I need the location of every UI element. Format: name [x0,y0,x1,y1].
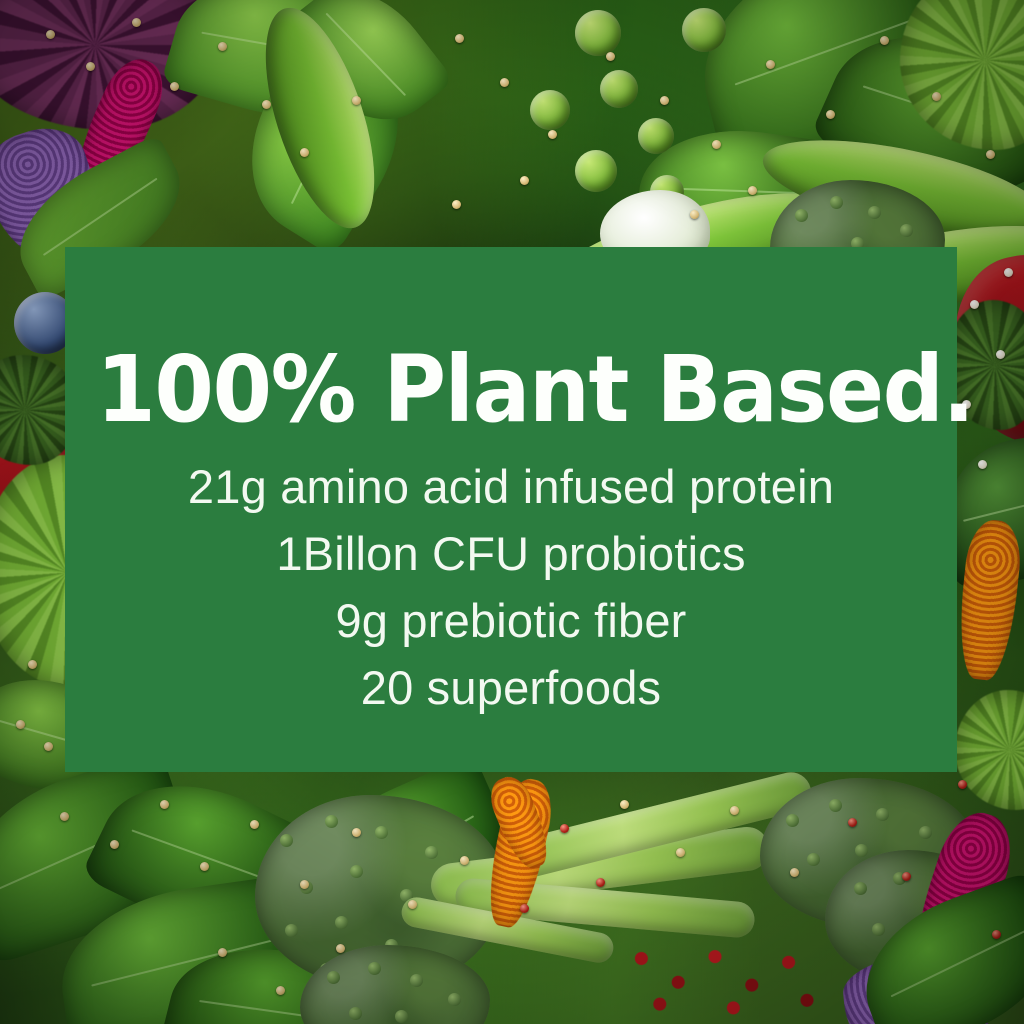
pea-sphere-2 [682,8,726,52]
seed-dot [452,200,461,209]
seed-dot [46,30,55,39]
seed-dot [200,862,209,871]
seed-dot [548,130,557,139]
seed-dot [660,96,669,105]
benefit-item-fiber: 9g prebiotic fiber [65,587,957,654]
seed-dot [620,800,629,809]
seed-dot [606,52,615,61]
seed-dot [766,60,775,69]
pea-sphere-7 [650,175,684,209]
seed-dot [352,828,361,837]
seed-dot-red [848,818,857,827]
seed-dot [60,812,69,821]
seed-dot-white [970,300,979,309]
seed-dot [110,840,119,849]
pea-sphere-5 [638,118,674,154]
seed-dot [880,36,889,45]
pea-sphere-4 [530,90,570,130]
poster-canvas: 100% Plant Based. 21g amino acid infused… [0,0,1024,1024]
seed-dot [676,848,685,857]
seed-dot [748,186,757,195]
seed-dot [132,18,141,27]
seed-dot [690,210,699,219]
seed-dot [300,880,309,889]
seed-dot-red [520,904,529,913]
seed-dot-red [596,878,605,887]
pea-sphere-6 [575,150,617,192]
seed-dot [86,62,95,71]
seed-dot [460,856,469,865]
seed-dot-red [902,872,911,881]
seed-dot [218,42,227,51]
seed-dot [408,900,417,909]
benefit-list: 21g amino acid infused protein 1Billon C… [65,453,957,721]
seed-dot [300,148,309,157]
seed-dot [352,96,361,105]
seed-dot [250,820,259,829]
seed-dot [730,806,739,815]
seed-dot [500,78,509,87]
seed-dot-white [1004,268,1013,277]
seed-dot [932,92,941,101]
seed-dot [336,944,345,953]
seed-dot-red [560,824,569,833]
seed-dot-white [978,460,987,469]
benefit-item-probiotics: 1Billon CFU probiotics [65,520,957,587]
benefit-item-protein: 21g amino acid infused protein [65,453,957,520]
seed-dot [170,82,179,91]
seed-dot [455,34,464,43]
pea-sphere-1 [575,10,621,56]
seed-dot [160,800,169,809]
seed-dot [44,742,53,751]
seed-dot-red [992,930,1001,939]
seed-dot [262,100,271,109]
seed-dot [986,150,995,159]
seed-dot [712,140,721,149]
red-peppercorn-cluster [600,930,830,1024]
seed-dot [16,720,25,729]
seed-dot [520,176,529,185]
seed-dot [218,948,227,957]
seed-dot-white [996,350,1005,359]
seed-dot [28,660,37,669]
seed-dot [790,868,799,877]
seed-dot [826,110,835,119]
benefit-item-superfoods: 20 superfoods [65,654,957,721]
seed-dot-red [958,780,967,789]
seed-dot [276,986,285,995]
page-title: 100% Plant Based. [96,344,926,436]
green-text-panel: 100% Plant Based. 21g amino acid infused… [65,247,957,772]
pea-sphere-3 [600,70,638,108]
kale-right-lower [955,690,1024,810]
